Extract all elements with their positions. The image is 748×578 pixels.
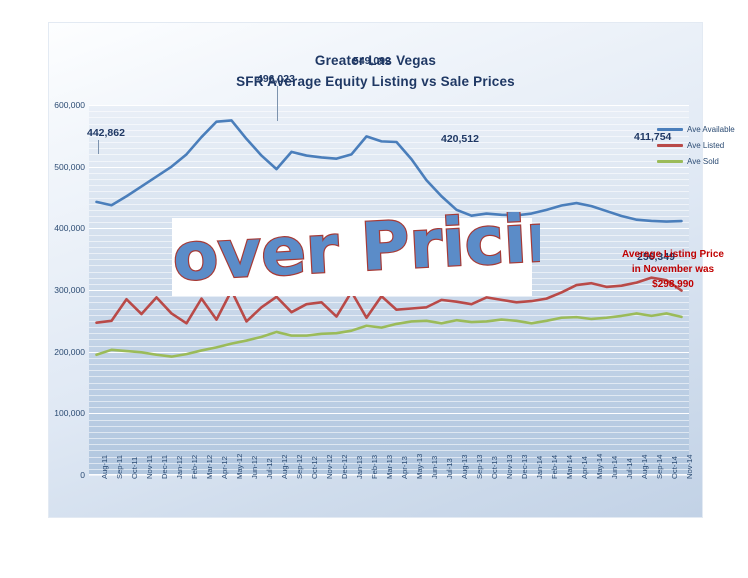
- x-axis-tick: Oct-14: [670, 456, 679, 479]
- legend-swatch: [657, 144, 683, 147]
- annotation-line-1: Average Listing Price: [597, 247, 748, 262]
- x-axis: Aug-11Sep-11Oct-11Nov-11Dec-11Jan-12Feb-…: [89, 479, 689, 537]
- x-axis-tick: Mar-13: [385, 455, 394, 479]
- series-line: [97, 120, 682, 221]
- x-axis-tick: Mar-12: [205, 455, 214, 479]
- x-axis-tick: May-14: [595, 454, 604, 479]
- x-axis-tick: Jun-13: [430, 456, 439, 479]
- callout-dip: 496,023: [257, 73, 295, 85]
- x-axis-tick: Jul-14: [625, 458, 634, 479]
- legend-swatch: [657, 160, 683, 163]
- y-axis-tick: 0: [33, 470, 85, 480]
- x-axis-tick: Dec-11: [160, 455, 169, 479]
- callout-start-leader: [98, 140, 99, 154]
- x-axis-tick: Nov-13: [505, 455, 514, 479]
- y-axis-tick: 600,000: [33, 100, 85, 110]
- november-listing-price-note: Average Listing Price in November was $2…: [597, 247, 748, 292]
- callout-peak: 549,092: [353, 55, 391, 67]
- annotation-line-3: $298,990: [597, 277, 748, 292]
- x-axis-tick: Aug-13: [460, 455, 469, 480]
- x-axis-tick: Oct-12: [310, 456, 319, 479]
- y-axis-tick: 200,000: [33, 347, 85, 357]
- chart-subtitle: SFR Average Equity Listing vs Sale Price…: [49, 74, 702, 89]
- legend-label: Ave Sold: [687, 157, 719, 166]
- y-axis-tick: 500,000: [33, 162, 85, 172]
- callout-start: 442,862: [87, 127, 125, 139]
- y-axis-tick: 300,000: [33, 285, 85, 295]
- chart-legend: Ave AvailableAve ListedAve Sold: [657, 121, 748, 169]
- callout-dip-leader: [277, 86, 278, 121]
- x-axis-tick: Jan-14: [535, 456, 544, 479]
- x-axis-tick: Oct-13: [490, 456, 499, 479]
- x-axis-tick: Apr-14: [580, 456, 589, 479]
- y-axis-tick: 100,000: [33, 408, 85, 418]
- x-axis-tick: Sep-14: [655, 455, 664, 480]
- x-axis-tick: Feb-12: [190, 455, 199, 479]
- x-axis-tick: Dec-12: [340, 455, 349, 479]
- x-axis-tick: Sep-12: [295, 455, 304, 480]
- x-axis-tick: Sep-11: [115, 455, 124, 479]
- y-axis-tick: 400,000: [33, 223, 85, 233]
- x-axis-tick: Oct-11: [130, 457, 139, 479]
- legend-label: Ave Listed: [687, 141, 724, 150]
- x-axis-tick: Sep-13: [475, 455, 484, 480]
- annotation-line-2: in November was: [597, 262, 748, 277]
- x-axis-tick: Aug-14: [640, 455, 649, 480]
- x-axis-tick: May-13: [415, 454, 424, 479]
- x-axis-tick: Mar-14: [565, 455, 574, 479]
- x-axis-tick: Feb-14: [550, 455, 559, 479]
- x-axis-tick: Feb-13: [370, 455, 379, 479]
- callout-low: 420,512: [441, 133, 479, 145]
- callout-end-available: 411,754: [634, 131, 671, 143]
- x-axis-tick: Jul-12: [265, 458, 274, 479]
- x-axis-tick: Aug-12: [280, 455, 289, 480]
- x-axis-tick: Nov-11: [145, 455, 154, 479]
- x-axis-tick: Aug-11: [100, 455, 109, 479]
- wordart-text: over Pricing: [171, 212, 540, 296]
- x-axis-tick: Jun-12: [250, 456, 259, 479]
- legend-item[interactable]: Ave Sold: [657, 153, 748, 169]
- chart-screenshot: Greater Las Vegas SFR Average Equity Lis…: [0, 0, 748, 578]
- x-axis-tick: Nov-12: [325, 455, 334, 479]
- x-axis-tick: Nov-14: [685, 455, 694, 479]
- x-axis-tick: Jan-12: [175, 456, 184, 479]
- x-axis-tick: Apr-12: [220, 456, 229, 479]
- x-axis-tick: Apr-13: [400, 456, 409, 479]
- x-axis-tick: Jul-13: [445, 458, 454, 479]
- legend-label: Ave Available: [687, 125, 735, 134]
- over-pricing-wordart: over Pricing: [168, 212, 540, 304]
- series-line: [97, 313, 682, 356]
- x-axis-tick: May-12: [235, 454, 244, 479]
- x-axis-tick: Jan-13: [355, 456, 364, 479]
- x-axis-tick: Dec-13: [520, 455, 529, 479]
- x-axis-tick: Jun-14: [610, 456, 619, 479]
